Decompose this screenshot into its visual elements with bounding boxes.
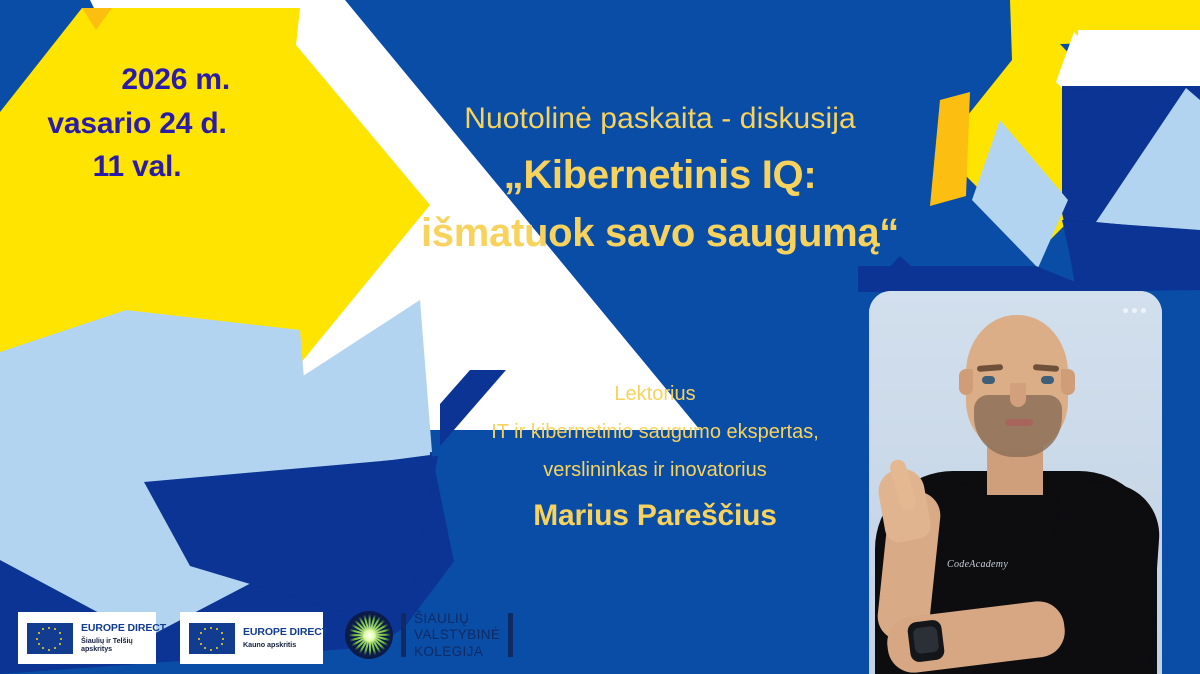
dot-2 <box>1132 308 1137 313</box>
divider-bar-right <box>508 613 513 657</box>
europe-direct-subtitle: Šiaulių ir Telšių apskritys <box>81 637 166 653</box>
college-logo: ŠIAULIŲ VALSTYBINĖ KOLEGIJA <box>345 611 513 660</box>
mouth <box>1005 419 1033 426</box>
starburst-icon <box>345 611 393 659</box>
speaker-portrait: CodeAcademy <box>869 291 1162 674</box>
eu-flag-icon <box>189 623 235 654</box>
lecturer-role-label: Lektorius <box>395 375 915 413</box>
lecturer-description-line-2: verslininkas ir inovatorius <box>395 451 915 489</box>
college-name: ŠIAULIŲ VALSTYBINĖ KOLEGIJA <box>414 611 500 660</box>
speaker-photo-card: CodeAcademy <box>869 291 1162 674</box>
europe-direct-text: EUROPE DIRECT Kauno apskritis <box>243 627 328 648</box>
event-date-year: 2026 m. <box>18 58 256 102</box>
europe-direct-logo-kaunas: EUROPE DIRECT Kauno apskritis <box>180 612 323 664</box>
europe-direct-logo-siauliai: EUROPE DIRECT Šiaulių ir Telšių apskrity… <box>18 612 156 664</box>
europe-direct-text: EUROPE DIRECT Šiaulių ir Telšių apskrity… <box>81 623 166 652</box>
college-name-line-2: VALSTYBINĖ <box>414 627 500 643</box>
starburst-core <box>363 629 376 642</box>
europe-direct-subtitle-line-2: apskritys <box>81 645 166 653</box>
event-date-block: 2026 m. vasario 24 d. 11 val. <box>18 58 256 189</box>
event-kicker: Nuotolinė paskaita - diskusija <box>330 100 990 138</box>
shape-navy-right-lower <box>1062 220 1200 292</box>
event-title-line-2: išmatuok savo saugumą“ <box>330 204 990 262</box>
college-name-line-1: ŠIAULIŲ <box>414 611 500 627</box>
europe-direct-subtitle-line-1: Kauno apskritis <box>243 641 328 649</box>
lecturer-description-line-1: IT ir kibernetinio saugumo ekspertas, <box>395 413 915 451</box>
europe-direct-title: EUROPE DIRECT <box>81 623 166 635</box>
europe-direct-title: EUROPE DIRECT <box>243 627 328 639</box>
event-time: 11 val. <box>18 145 256 189</box>
shirt-brand-logo: CodeAcademy <box>947 559 1008 570</box>
event-title: „Kibernetinis IQ: išmatuok savo saugumą“ <box>330 146 990 262</box>
eye-right <box>1041 376 1054 384</box>
dot-1 <box>1123 308 1128 313</box>
more-options-icon[interactable] <box>1123 308 1146 313</box>
college-name-line-3: KOLEGIJA <box>414 644 500 660</box>
dot-3 <box>1141 308 1146 313</box>
headline-block: Nuotolinė paskaita - diskusija „Kibernet… <box>330 100 990 262</box>
eu-flag-icon <box>27 623 73 654</box>
lecturer-block: Lektorius IT ir kibernetinio saugumo eks… <box>395 375 915 533</box>
event-date-day: vasario 24 d. <box>18 102 256 146</box>
event-poster: 2026 m. vasario 24 d. 11 val. Nuotolinė … <box>0 0 1200 674</box>
eye-left <box>982 376 995 384</box>
nose <box>1010 383 1026 407</box>
event-title-line-1: „Kibernetinis IQ: <box>330 146 990 204</box>
ear-right <box>1061 369 1075 395</box>
wristwatch-face <box>913 626 940 655</box>
europe-direct-subtitle: Kauno apskritis <box>243 641 328 649</box>
divider-bar-left <box>401 613 406 657</box>
shirt-shoulder-right <box>1045 480 1162 674</box>
lecturer-name: Marius Pareščius <box>395 499 915 533</box>
ear-left <box>959 369 973 395</box>
